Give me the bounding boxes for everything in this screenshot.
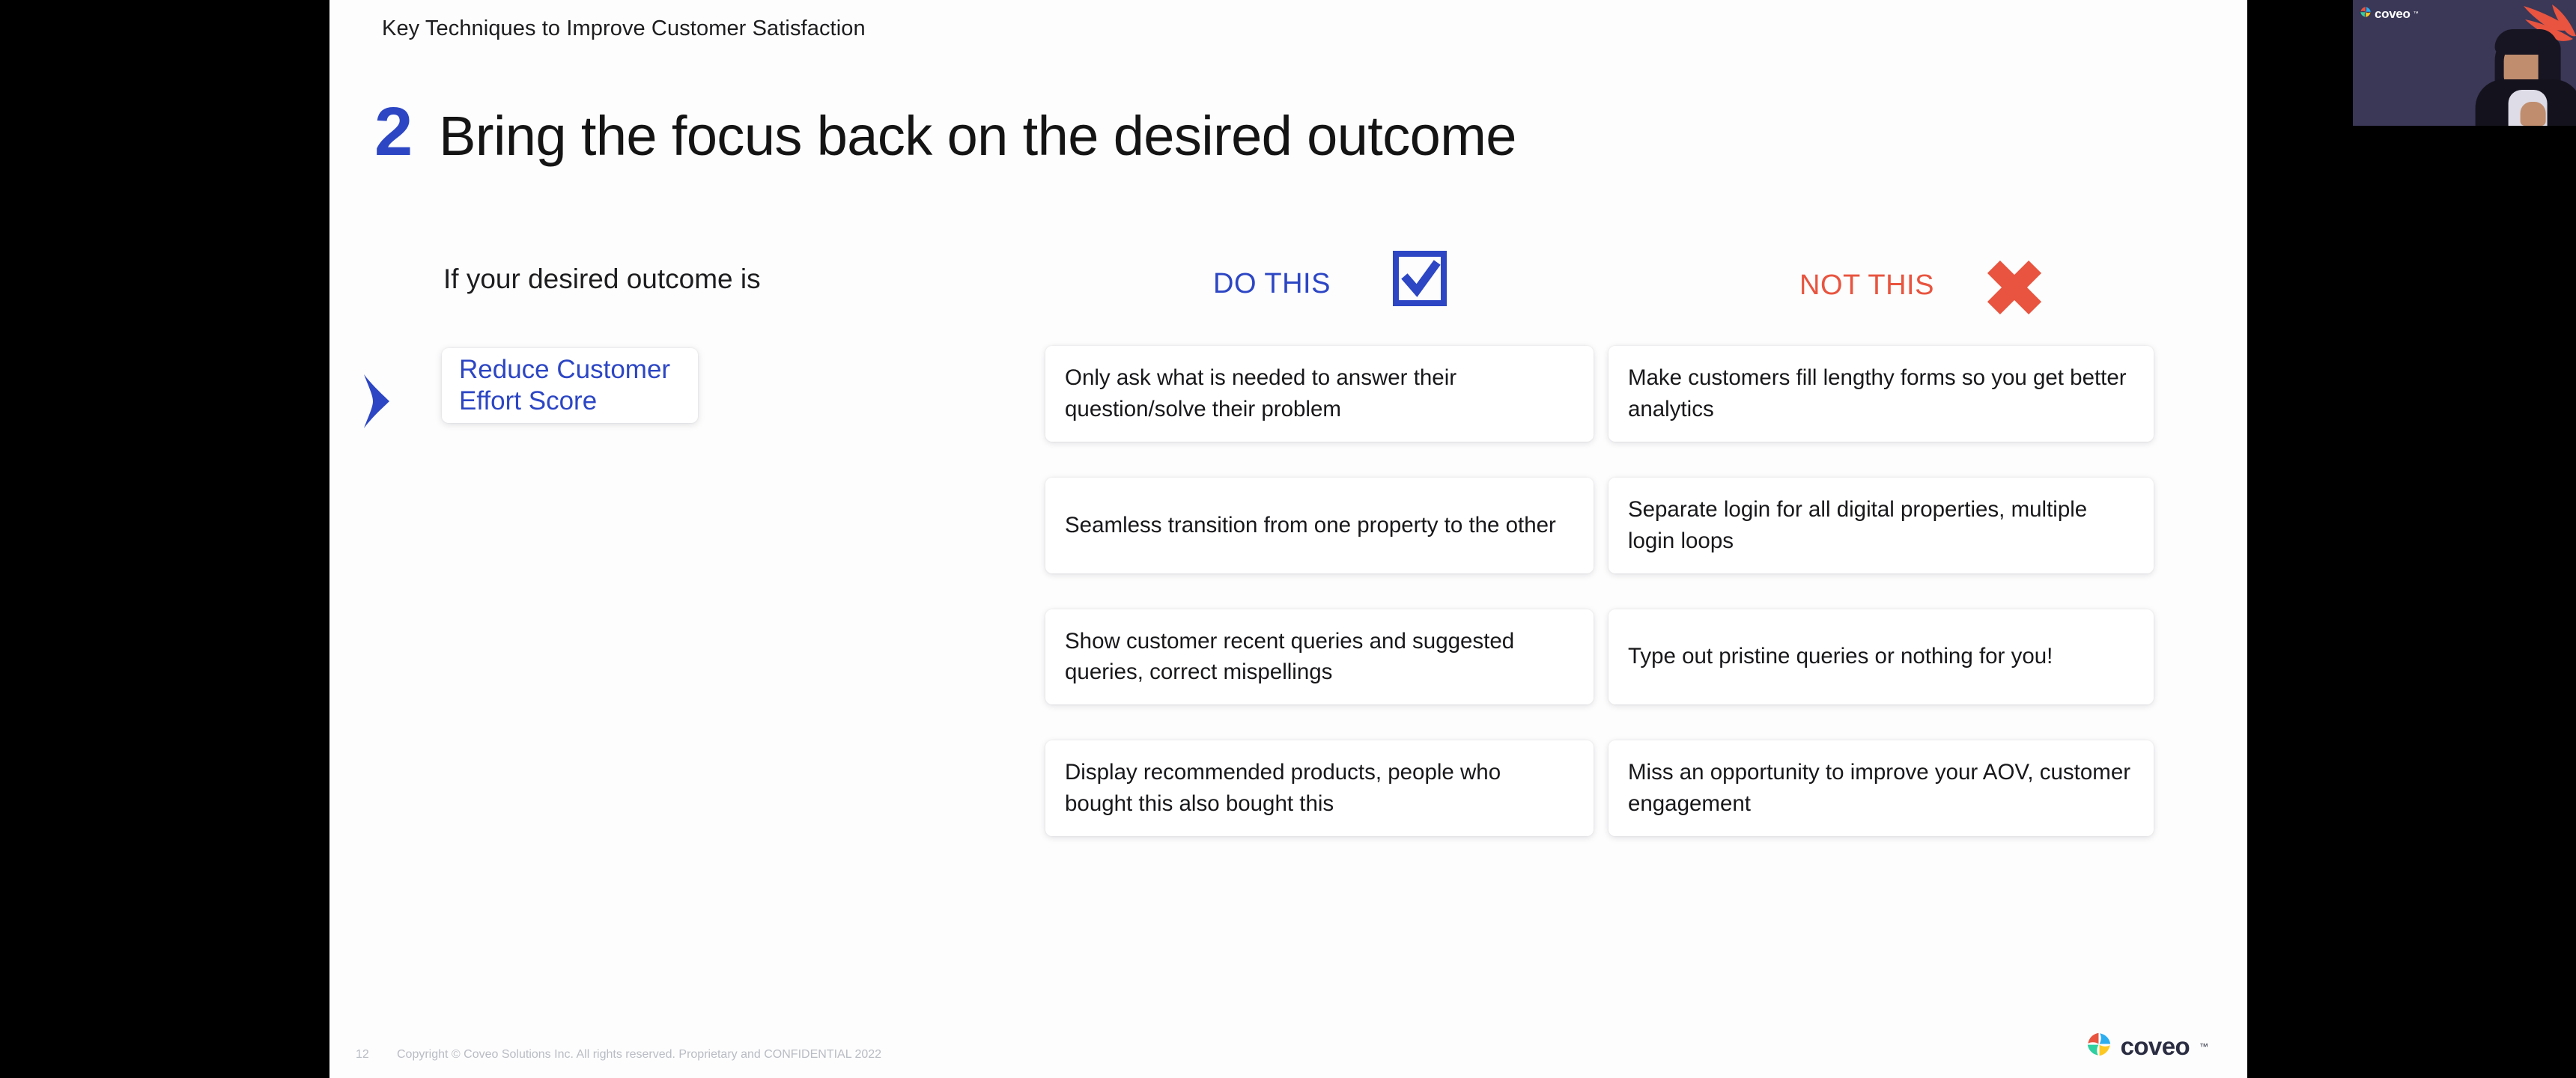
coveo-wordmark: coveo xyxy=(2121,1032,2190,1061)
practice-card-grid: Only ask what is needed to answer their … xyxy=(1045,346,2154,836)
do-this-card[interactable]: Only ask what is needed to answer their … xyxy=(1045,346,1594,442)
trademark-symbol: ™ xyxy=(2414,11,2419,16)
not-this-label: NOT THIS xyxy=(1799,269,1934,302)
coveo-logo: coveo ™ xyxy=(2086,1031,2208,1062)
presenter-video-feed xyxy=(2456,25,2576,126)
do-this-card-text: Display recommended products, people who… xyxy=(1065,757,1574,820)
not-this-card[interactable]: Make customers fill lengthy forms so you… xyxy=(1609,346,2154,442)
table-row: Only ask what is needed to answer their … xyxy=(1045,346,2154,442)
not-this-card[interactable]: Miss an opportunity to improve your AOV,… xyxy=(1609,740,2154,836)
page-title: Bring the focus back on the desired outc… xyxy=(439,109,1516,164)
desired-outcome-label: Reduce Customer Effort Score xyxy=(459,354,681,417)
copyright-notice: Copyright © Coveo Solutions Inc. All rig… xyxy=(397,1048,881,1062)
do-this-card[interactable]: Show customer recent queries and suggest… xyxy=(1045,609,1594,705)
slide-headline: 2 Bring the focus back on the desired ou… xyxy=(374,97,1516,166)
coveo-wordmark: coveo xyxy=(2375,7,2411,22)
webcam-coveo-logo: coveo ™ xyxy=(2360,6,2419,22)
not-this-card-text: Separate login for all digital propertie… xyxy=(1628,494,2134,557)
headline-step-number: 2 xyxy=(374,97,412,166)
checkbox-checked-icon xyxy=(1393,251,1447,310)
presentation-slide: Key Techniques to Improve Customer Satis… xyxy=(329,0,2247,1078)
coveo-pinwheel-logo xyxy=(2086,1031,2112,1062)
slide-kicker: Key Techniques to Improve Customer Satis… xyxy=(382,16,866,41)
not-this-card-text: Make customers fill lengthy forms so you… xyxy=(1628,362,2134,425)
page-number: 12 xyxy=(356,1048,369,1062)
column-header-band: If your desired outcome is DO THIS NOT T… xyxy=(329,217,2247,314)
table-row: Seamless transition from one property to… xyxy=(1045,478,2154,573)
arrow-right-icon xyxy=(359,373,394,433)
not-this-card-text: Miss an opportunity to improve your AOV,… xyxy=(1628,757,2134,820)
table-row: Display recommended products, people who… xyxy=(1045,740,2154,836)
trademark-symbol: ™ xyxy=(2199,1041,2208,1052)
do-this-card-text: Show customer recent queries and suggest… xyxy=(1065,626,1574,689)
presenter-webcam-overlay[interactable]: coveo ™ xyxy=(2353,0,2576,126)
do-this-card[interactable]: Seamless transition from one property to… xyxy=(1045,478,1594,573)
not-this-card[interactable]: Separate login for all digital propertie… xyxy=(1609,478,2154,573)
desired-outcome-card[interactable]: Reduce Customer Effort Score xyxy=(442,348,698,423)
do-this-label: DO THIS xyxy=(1213,268,1331,300)
lead-in-label: If your desired outcome is xyxy=(443,264,761,295)
do-this-card-text: Seamless transition from one property to… xyxy=(1065,510,1556,541)
screen-share-stage: Key Techniques to Improve Customer Satis… xyxy=(0,0,2576,1078)
do-this-card-text: Only ask what is needed to answer their … xyxy=(1065,362,1574,425)
cross-icon xyxy=(1981,256,2048,323)
slide-footer: 12 Copyright © Coveo Solutions Inc. All … xyxy=(329,1026,2247,1078)
not-this-card-text: Type out pristine queries or nothing for… xyxy=(1628,641,2053,672)
coveo-pinwheel-logo xyxy=(2360,6,2372,22)
not-this-card[interactable]: Type out pristine queries or nothing for… xyxy=(1609,609,2154,705)
table-row: Show customer recent queries and suggest… xyxy=(1045,609,2154,705)
do-this-card[interactable]: Display recommended products, people who… xyxy=(1045,740,1594,836)
presenter-hand xyxy=(2521,102,2546,126)
